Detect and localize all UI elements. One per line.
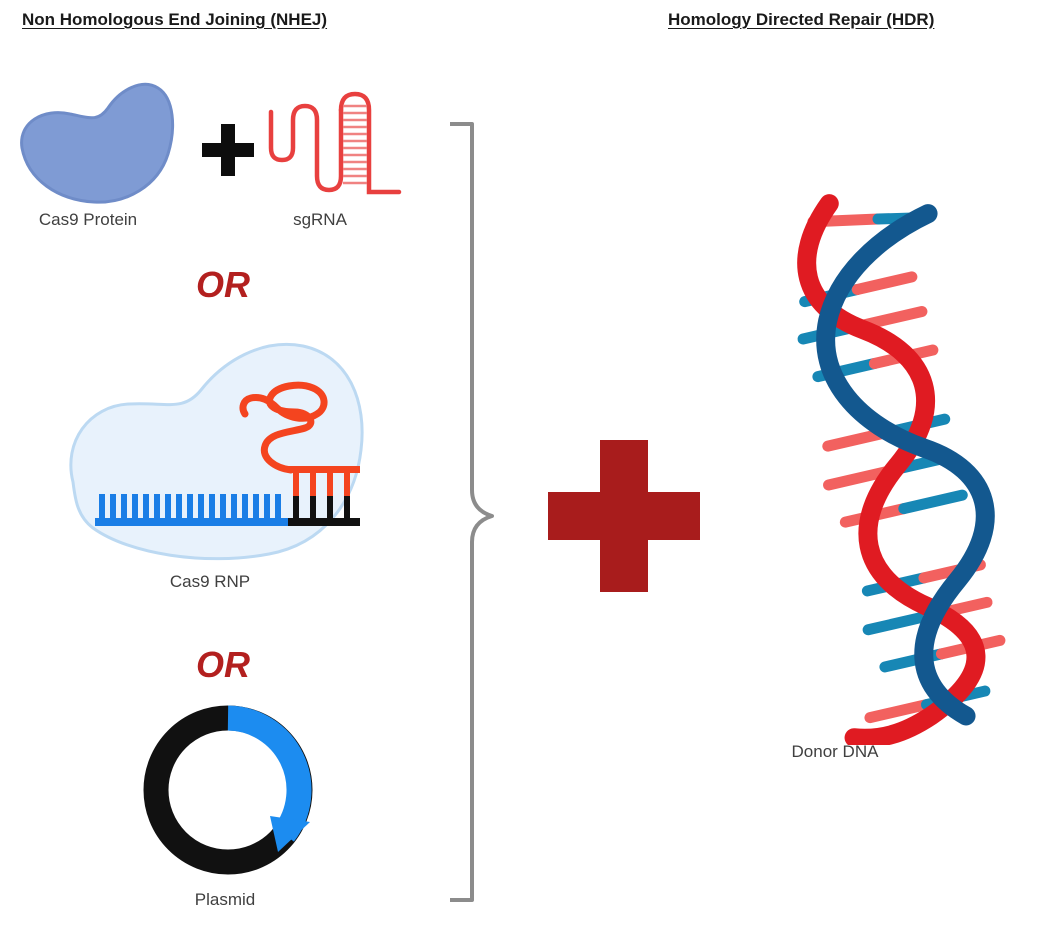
plasmid-circle-icon: [128, 690, 328, 890]
cas9-rnp-complex-icon: [55, 332, 375, 572]
label-cas9-rnp: Cas9 RNP: [90, 572, 330, 592]
grouping-brace: [440, 120, 550, 910]
label-sgrna: sgRNA: [240, 210, 400, 230]
cas9-protein-blob-icon: [8, 70, 178, 210]
label-cas9-protein: Cas9 Protein: [0, 210, 176, 230]
header-nhej: Non Homologous End Joining (NHEJ): [22, 10, 327, 30]
label-plasmid: Plasmid: [120, 890, 330, 910]
plus-operator-large-icon: [548, 440, 700, 592]
or-separator-1: OR: [196, 264, 250, 306]
label-donor-dna: Donor DNA: [720, 742, 950, 762]
header-hdr: Homology Directed Repair (HDR): [668, 10, 934, 30]
sgrna-hairpin-icon: [265, 80, 405, 210]
diagram-canvas: Non Homologous End Joining (NHEJ) Homolo…: [0, 0, 1050, 929]
or-separator-2: OR: [196, 644, 250, 686]
plus-operator-icon: [202, 124, 254, 176]
dna-double-helix-icon: [720, 175, 1020, 745]
